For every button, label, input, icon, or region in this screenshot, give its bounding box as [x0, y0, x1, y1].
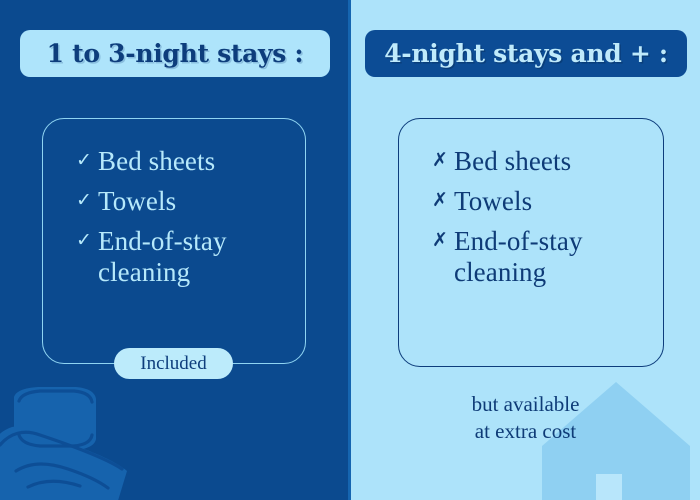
- cross-mark-icon: ✗: [432, 186, 454, 215]
- right-header-text: 4-night stays and + :: [384, 39, 668, 68]
- list-item-label: End-of-stay cleaning: [454, 226, 653, 286]
- footnote-line-1: but available: [351, 391, 700, 418]
- right-column: 4-night stays and + : ✗ Bed sheets ✗ Tow…: [351, 0, 700, 500]
- list-item-label: End-of-stay cleaning: [98, 226, 295, 286]
- right-benefits-card: ✗ Bed sheets ✗ Towels ✗ End-of-stay clea…: [398, 118, 664, 367]
- list-item: ✗ Towels: [432, 186, 653, 216]
- left-benefits-card: ✓ Bed sheets ✓ Towels ✓ End-of-stay clea…: [42, 118, 306, 364]
- infographic-canvas: 1 to 3-night stays : ✓ Bed sheets ✓ Towe…: [0, 0, 700, 500]
- list-item: ✗ End-of-stay cleaning: [432, 226, 653, 286]
- list-item: ✓ End-of-stay cleaning: [76, 226, 295, 286]
- list-item-label: Bed sheets: [454, 146, 571, 176]
- cross-mark-icon: ✗: [432, 146, 454, 175]
- check-mark-icon: ✓: [76, 226, 98, 255]
- list-item: ✓ Towels: [76, 186, 295, 216]
- list-item: ✓ Bed sheets: [76, 146, 295, 176]
- list-item-label: Bed sheets: [98, 146, 215, 176]
- left-header-badge: 1 to 3-night stays :: [20, 30, 330, 77]
- list-item-label: Towels: [454, 186, 532, 216]
- check-mark-icon: ✓: [76, 186, 98, 215]
- right-header-badge: 4-night stays and + :: [365, 30, 687, 77]
- check-mark-icon: ✓: [76, 146, 98, 175]
- left-header-text: 1 to 3-night stays :: [47, 39, 304, 68]
- left-benefit-list: ✓ Bed sheets ✓ Towels ✓ End-of-stay clea…: [76, 146, 295, 297]
- cross-mark-icon: ✗: [432, 226, 454, 255]
- extra-cost-footnote: but available at extra cost: [351, 391, 700, 446]
- right-benefit-list: ✗ Bed sheets ✗ Towels ✗ End-of-stay clea…: [432, 146, 653, 297]
- left-column: 1 to 3-night stays : ✓ Bed sheets ✓ Towe…: [0, 0, 348, 500]
- list-item-label: Towels: [98, 186, 176, 216]
- footnote-line-2: at extra cost: [351, 418, 700, 445]
- list-item: ✗ Bed sheets: [432, 146, 653, 176]
- included-status-badge: Included: [114, 348, 233, 379]
- included-status-label: Included: [140, 353, 206, 375]
